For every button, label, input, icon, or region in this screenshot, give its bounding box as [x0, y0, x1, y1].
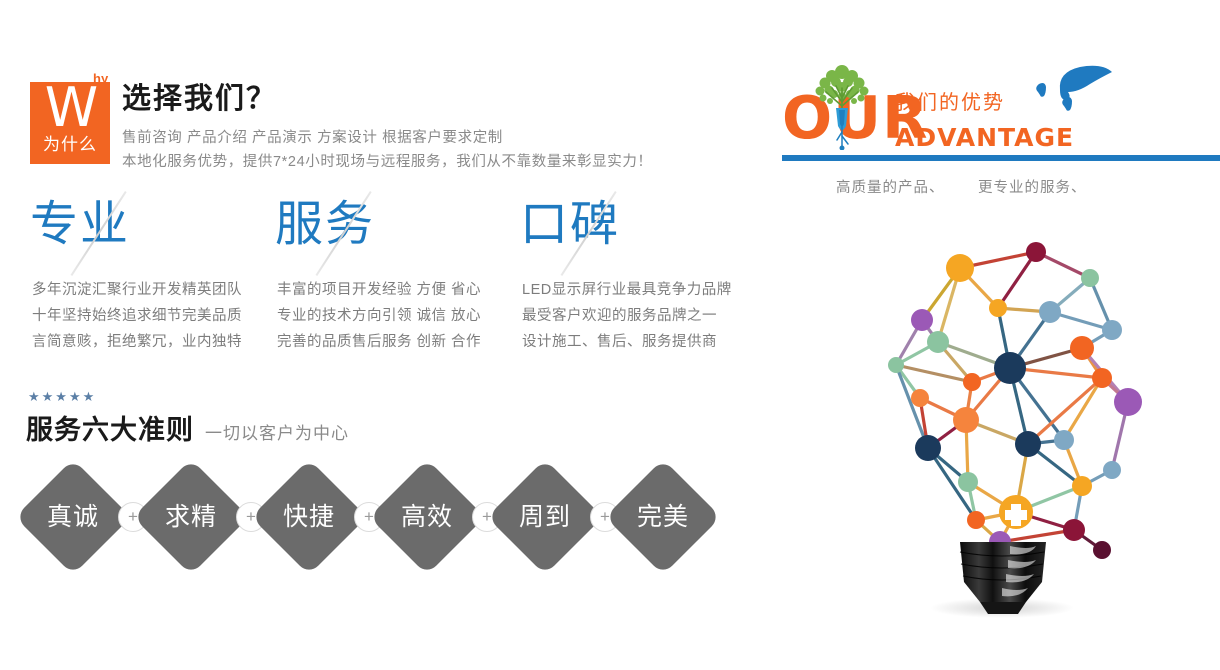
diamond-label: 真诚 [22, 500, 124, 534]
infographic-page: W hy 为什么 选择我们？ 售前咨询 产品介绍 产品演示 方案设计 根据客户要… [0, 0, 1220, 670]
feature-line: 丰富的项目开发经验 方便 省心 [277, 277, 481, 303]
diamond-label: 快捷 [258, 500, 360, 534]
feature-line: 十年坚持始终追求细节完美品质 [32, 303, 242, 329]
diamond-item[interactable]: 真诚 [22, 468, 124, 586]
why-logo-superscript: hy [93, 72, 108, 85]
tree-icon [810, 58, 874, 150]
feature-title: 服务 [275, 195, 525, 267]
feature-lines: LED显示屏行业最具竞争力品牌 最受客户欢迎的服务品牌之一 设计施工、售后、服务… [522, 277, 732, 355]
feature-line: 多年沉淀汇聚行业开发精英团队 [32, 277, 242, 303]
diamond-item[interactable]: 周到 [494, 468, 596, 586]
diamond-item[interactable]: 求精 [140, 468, 242, 586]
feature-column-reputation: 口碑 LED显示屏行业最具竞争力品牌 最受客户欢迎的服务品牌之一 设计施工、售后… [520, 195, 770, 267]
diamond-label: 高效 [376, 500, 478, 534]
advantage-title-en: ADVANTAGE [895, 124, 1074, 152]
feature-line: 最受客户欢迎的服务品牌之一 [522, 303, 732, 329]
feature-title: 口碑 [520, 195, 770, 267]
subtitle-line-2: 本地化服务优势，提供7*24小时现场与远程服务，我们从不靠数量来彰显实力！ [122, 152, 653, 172]
feature-title: 专业 [30, 195, 280, 267]
principles-title: 服务六大准则 [26, 412, 194, 448]
feature-columns: 专业 多年沉淀汇聚行业开发精英团队 十年坚持始终追求细节完美品质 言简意赅，拒绝… [0, 195, 770, 365]
lightbulb-network-icon [850, 190, 1150, 620]
principles-diamond-row: 真诚 + 求精 + 快捷 + 高效 + 周到 + [22, 468, 752, 586]
feature-line: 设计施工、售后、服务提供商 [522, 329, 732, 355]
diamond-label: 求精 [140, 500, 242, 534]
feature-line: 专业的技术方向引领 诚信 放心 [277, 303, 481, 329]
feature-line: 完善的品质售后服务 创新 合作 [277, 329, 481, 355]
diamond-label: 完美 [612, 500, 714, 534]
why-logo-caption: 为什么 [30, 134, 110, 156]
feature-line: 言简意赅，拒绝繁冗，业内独特 [32, 329, 242, 355]
subtitle-line-1: 售前咨询 产品介绍 产品演示 方案设计 根据客户要求定制 [122, 128, 503, 148]
diamond-item[interactable]: 快捷 [258, 468, 360, 586]
feature-column-professional: 专业 多年沉淀汇聚行业开发精英团队 十年坚持始终追求细节完美品质 言简意赅，拒绝… [30, 195, 280, 267]
advantage-title-cn: 我们的优势 [895, 91, 1005, 115]
diamond-item[interactable]: 高效 [376, 468, 478, 586]
star-rating-icon: ★★★★★ [28, 390, 96, 403]
page-title: 选择我们？ [122, 82, 277, 116]
bird-splash-icon [1028, 62, 1114, 124]
divider-rule [782, 155, 1220, 161]
right-panel: OUR [770, 0, 1220, 670]
why-logo: W hy 为什么 [30, 72, 120, 164]
diamond-label: 周到 [494, 500, 596, 534]
diamond-item[interactable]: 完美 [612, 468, 714, 586]
feature-lines: 多年沉淀汇聚行业开发精英团队 十年坚持始终追求细节完美品质 言简意赅，拒绝繁冗，… [32, 277, 242, 355]
left-panel: W hy 为什么 选择我们？ 售前咨询 产品介绍 产品演示 方案设计 根据客户要… [0, 0, 770, 670]
principles-subtitle: 一切以客户为中心 [205, 420, 349, 448]
feature-lines: 丰富的项目开发经验 方便 省心 专业的技术方向引领 诚信 放心 完善的品质售后服… [277, 277, 481, 355]
why-logo-letter: W [30, 82, 110, 134]
feature-column-service: 服务 丰富的项目开发经验 方便 省心 专业的技术方向引领 诚信 放心 完善的品质… [275, 195, 525, 267]
feature-line: LED显示屏行业最具竞争力品牌 [522, 277, 732, 303]
